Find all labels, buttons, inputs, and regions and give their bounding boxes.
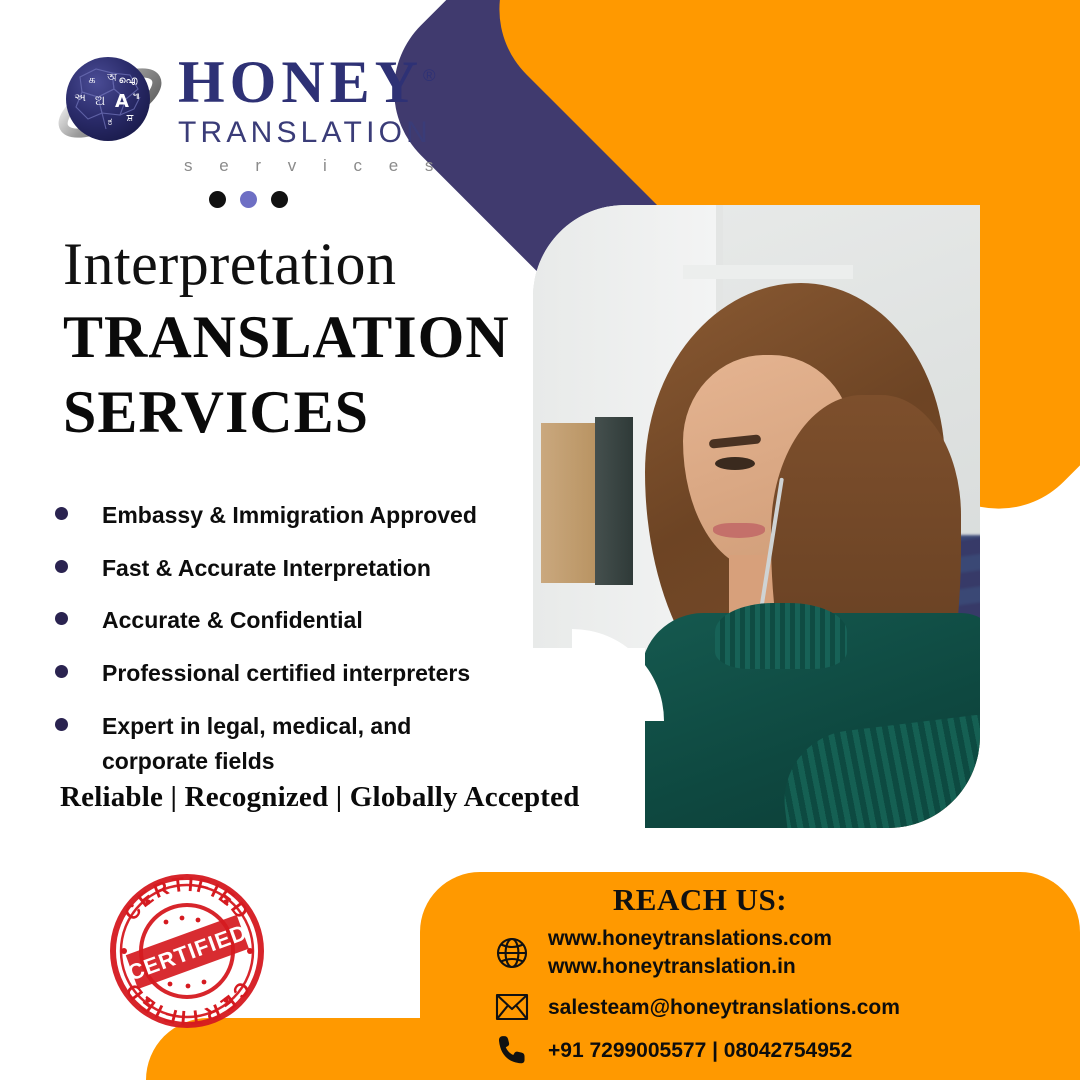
contact-list: www.honeytranslations.com www.honeytrans… (492, 925, 900, 1080)
envelope-icon (492, 993, 532, 1021)
headline-main-2: SERVICES (63, 379, 510, 446)
brand-logo: க অ ഐ અ ଅ A ๚ ࠿ ಕ ਸ਼ HONEY® TRANSLATION s… (56, 47, 444, 176)
list-item: Fast & Accurate Interpretation (55, 551, 525, 587)
website-line-2[interactable]: www.honeytranslation.in (548, 953, 832, 981)
globe-icon (492, 936, 532, 970)
logo-line-services: s e r v i c e s (178, 156, 444, 176)
certified-stamp-icon: CERTIFIED CERTIFIED CERTIFIED (108, 872, 266, 1030)
contact-row-phone[interactable]: +91 7299005577 | 08042754952 (492, 1034, 900, 1067)
svg-text:અ: અ (74, 91, 86, 104)
dot-3 (271, 191, 288, 208)
feature-text: Fast & Accurate Interpretation (102, 551, 431, 587)
phone-icon (492, 1034, 532, 1067)
logo-name: HONEY® (178, 53, 444, 112)
website-line-1[interactable]: www.honeytranslations.com (548, 925, 832, 953)
contact-row-website[interactable]: www.honeytranslations.com www.honeytrans… (492, 925, 900, 980)
list-item: Professional certified interpreters (55, 656, 525, 692)
svg-text:ଅ: ଅ (95, 94, 105, 109)
bullet-dot-icon (55, 718, 68, 731)
website-text[interactable]: www.honeytranslations.com www.honeytrans… (548, 925, 832, 980)
logo-line-translation: TRANSLATION (178, 114, 444, 152)
feature-text: Expert in legal, medical, and corporate … (102, 709, 452, 780)
feature-text: Accurate & Confidential (102, 603, 363, 639)
decorative-dots (209, 191, 288, 208)
list-item: Expert in legal, medical, and corporate … (55, 709, 525, 780)
bullet-dot-icon (55, 560, 68, 573)
svg-text:ഐ: ഐ (118, 75, 138, 86)
feature-list: Embassy & Immigration Approved Fast & Ac… (55, 498, 525, 797)
svg-text:க: க (88, 73, 95, 86)
email-text[interactable]: salesteam@honeytranslations.com (548, 994, 900, 1022)
bullet-dot-icon (55, 507, 68, 520)
feature-text: Embassy & Immigration Approved (102, 498, 477, 534)
tagline: Reliable | Recognized | Globally Accepte… (60, 781, 580, 814)
dot-2 (240, 191, 257, 208)
language-globe-icon: க অ ഐ અ ଅ A ๚ ࠿ ಕ ਸ਼ (56, 47, 164, 153)
contact-row-email[interactable]: salesteam@honeytranslations.com (492, 993, 900, 1021)
bullet-dot-icon (55, 665, 68, 678)
svg-text:ಕ: ಕ (108, 115, 113, 128)
svg-text:๚: ๚ (133, 91, 140, 102)
dot-1 (209, 191, 226, 208)
page-title: REACH US: (420, 882, 980, 918)
headline-main-1: TRANSLATION (63, 304, 510, 371)
phone-text[interactable]: +91 7299005577 | 08042754952 (548, 1037, 852, 1065)
list-item: Accurate & Confidential (55, 603, 525, 639)
headline-block: Interpretation TRANSLATION SERVICES (63, 233, 510, 446)
svg-text:ਸ਼: ਸ਼ (126, 113, 134, 124)
poster-canvas: க অ ഐ અ ଅ A ๚ ࠿ ಕ ਸ਼ HONEY® TRANSLATION s… (0, 0, 1080, 1080)
headline-script: Interpretation (63, 233, 510, 296)
registered-mark: ® (423, 66, 436, 85)
svg-text:A: A (115, 91, 129, 112)
svg-text:অ: অ (106, 71, 117, 84)
list-item: Embassy & Immigration Approved (55, 498, 525, 534)
feature-text: Professional certified interpreters (102, 656, 470, 692)
bullet-dot-icon (55, 612, 68, 625)
